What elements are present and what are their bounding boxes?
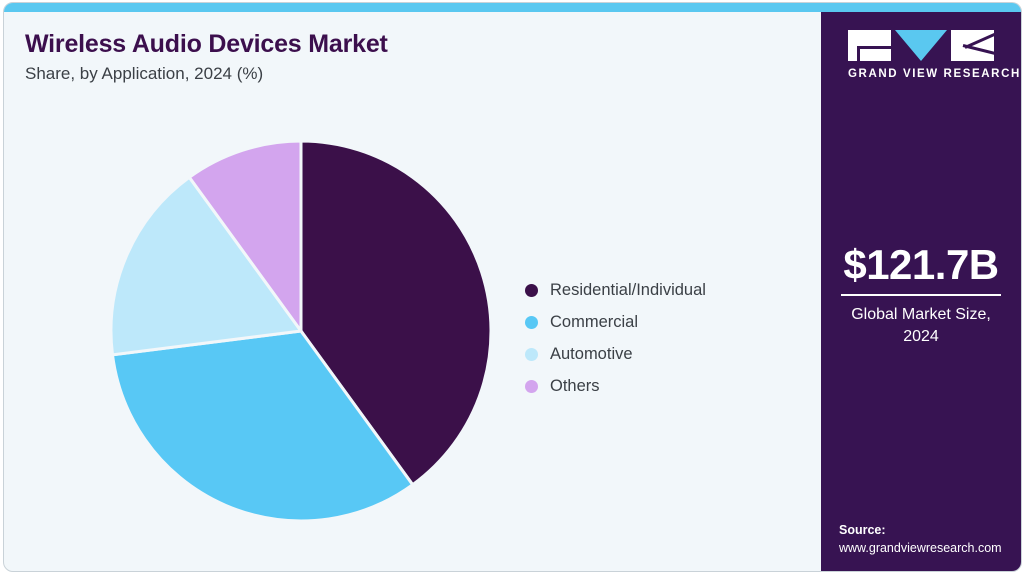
- pie-chart: [108, 138, 494, 524]
- logo-r-icon: [951, 30, 994, 61]
- page-subtitle: Share, by Application, 2024 (%): [25, 64, 263, 84]
- side-panel: GRAND VIEW RESEARCH $121.7B Global Marke…: [821, 12, 1021, 572]
- legend-item[interactable]: Automotive: [525, 338, 706, 370]
- logo-wordmark: GRAND VIEW RESEARCH: [848, 68, 994, 80]
- chart-area: Wireless Audio Devices Market Share, by …: [4, 12, 823, 572]
- legend-color-swatch: [525, 380, 538, 393]
- legend-color-swatch: [525, 284, 538, 297]
- logo-v-triangle-icon: [895, 30, 947, 61]
- stat-divider: [841, 294, 1001, 296]
- chart-legend: Residential/IndividualCommercialAutomoti…: [525, 274, 706, 402]
- source-label: Source:: [839, 522, 1002, 540]
- legend-item[interactable]: Commercial: [525, 306, 706, 338]
- market-size-value: $121.7B: [821, 242, 1021, 288]
- market-size-block: $121.7B Global Market Size, 2024: [821, 242, 1021, 347]
- top-accent-bar: [4, 3, 1021, 12]
- legend-color-swatch: [525, 316, 538, 329]
- legend-item[interactable]: Residential/Individual: [525, 274, 706, 306]
- source-url: www.grandviewresearch.com: [839, 540, 1002, 558]
- logo-marks: [848, 30, 994, 61]
- legend-item-label: Residential/Individual: [550, 281, 706, 300]
- grand-view-research-logo: GRAND VIEW RESEARCH: [848, 30, 994, 80]
- market-size-caption: Global Market Size, 2024: [821, 304, 1021, 347]
- legend-item-label: Commercial: [550, 313, 638, 332]
- source-block: Source: www.grandviewresearch.com: [839, 522, 1002, 557]
- legend-color-swatch: [525, 348, 538, 361]
- chart-card: Wireless Audio Devices Market Share, by …: [3, 2, 1022, 572]
- pie-chart-svg: [108, 138, 494, 524]
- legend-item[interactable]: Others: [525, 370, 706, 402]
- legend-item-label: Automotive: [550, 345, 633, 364]
- legend-item-label: Others: [550, 377, 600, 396]
- page-title: Wireless Audio Devices Market: [25, 30, 388, 59]
- logo-g-icon: [848, 30, 891, 61]
